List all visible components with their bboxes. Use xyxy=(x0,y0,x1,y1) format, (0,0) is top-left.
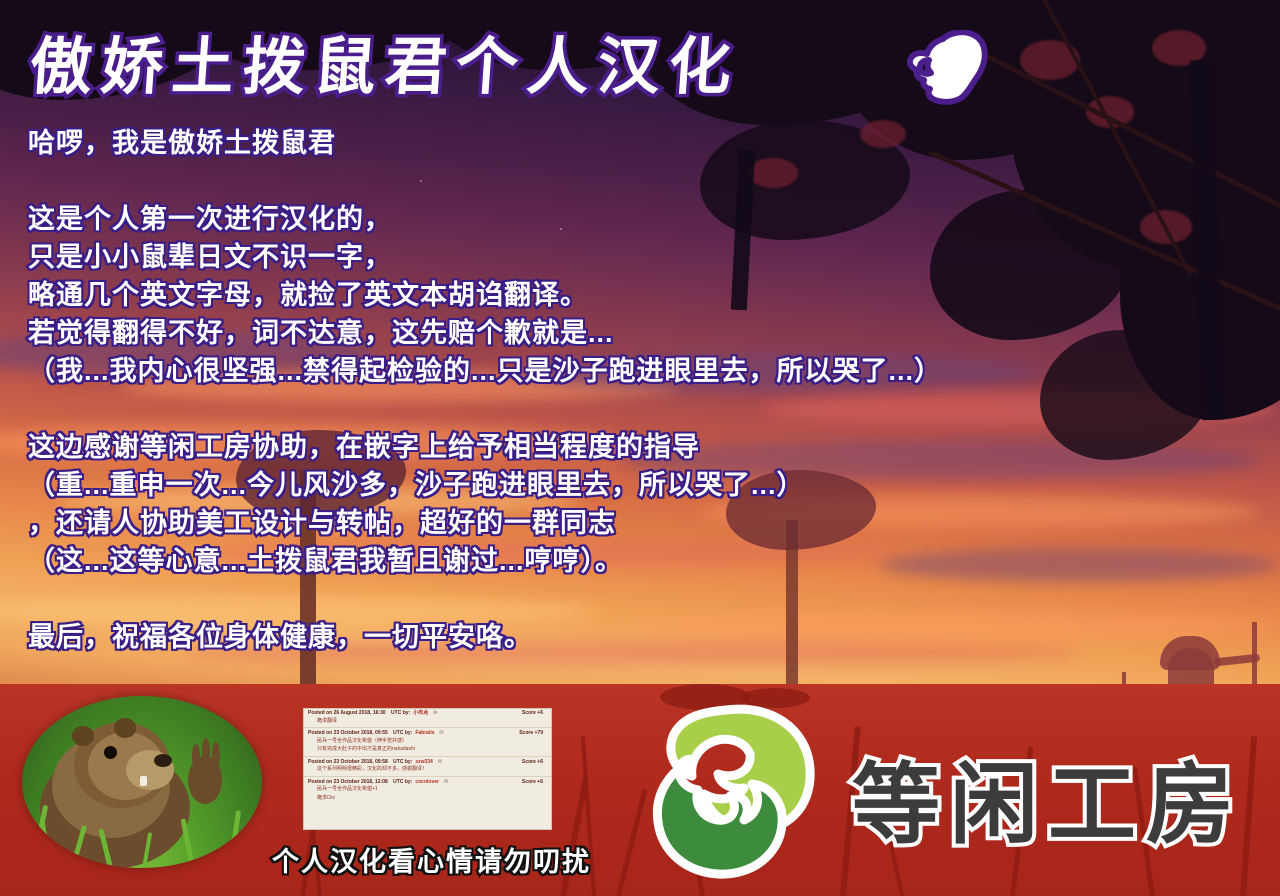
comment-username[interactable]: 小布点 xyxy=(413,710,428,717)
comment-username[interactable]: cocolover xyxy=(415,779,439,786)
envelope-icon[interactable]: ✉ xyxy=(440,730,444,737)
copy-spacer xyxy=(28,390,1258,428)
poster-canvas: 傲娇土拨鼠君个人汉化 哈啰，我是傲娇土拨鼠君 这是个人第一次进行汉化的， 只是小… xyxy=(0,0,1280,896)
logo-wordmark: 等闲工房 xyxy=(852,734,1244,861)
comment-divider xyxy=(304,776,551,777)
comment-divider xyxy=(304,727,551,728)
comments-panel: Posted on 26 August 2018, 16:30 UTC by: … xyxy=(303,708,552,830)
comment-text: 只有完成大肚子的中出才是真正的nakadashi xyxy=(304,746,551,755)
copy-line: （这...这等心意...土拨鼠君我暂且谢过...哼哼）。 xyxy=(28,542,1258,580)
comment-by-label: UTC by: xyxy=(393,730,412,737)
copy-line: 哈啰，我是傲娇土拨鼠君 xyxy=(28,124,1258,162)
comment-posted-prefix: Posted on xyxy=(308,710,332,717)
comment-by-label: UTC by: xyxy=(393,759,412,766)
page-title: 傲娇土拨鼠君个人汉化 xyxy=(27,24,1003,110)
comment-header: Posted on 23 October 2018, 12:08 UTC by:… xyxy=(304,778,551,786)
comment-divider xyxy=(304,756,551,757)
comment-text: 跪求翻译 xyxy=(304,717,551,727)
green-sprout-emblem-icon xyxy=(640,704,840,884)
copy-line: 这是个人第一次进行汉化的， xyxy=(28,200,1258,238)
poster-title-bar: 傲娇土拨鼠君个人汉化 xyxy=(30,24,1000,114)
comment-text: 民兵一号全作品汉化希望（伸手党并感） xyxy=(304,737,551,747)
envelope-icon[interactable]: ✉ xyxy=(444,779,448,786)
comment-posted-prefix: Posted on xyxy=(308,759,332,766)
comment-date: 23 October 2018, 09:58 xyxy=(334,759,388,766)
copy-spacer xyxy=(28,162,1258,200)
copy-line: 只是小小鼠辈日文不识一字， xyxy=(28,238,1258,276)
dengxian-logo: 等闲工房 xyxy=(640,694,1270,890)
comment-score: Score +6 xyxy=(522,759,547,766)
comment-username[interactable]: xzw334 xyxy=(415,759,433,766)
comment-date: 26 August 2018, 16:30 xyxy=(334,710,386,717)
comment-date: 23 October 2018, 09:55 xyxy=(334,730,388,737)
comment-score: Score +79 xyxy=(519,730,547,737)
comment-posted-prefix: Posted on xyxy=(308,730,332,737)
comment-header: Posted on 23 October 2018, 09:55 UTC by:… xyxy=(304,729,551,737)
copy-line: 若觉得翻得不好，词不达意，这先赔个歉就是... xyxy=(28,314,1258,352)
copy-line: （重...重申一次...今儿风沙多，沙子跑进眼里去，所以哭了...） xyxy=(28,466,1258,504)
copy-line: 这边感谢等闲工房协助，在嵌字上给予相当程度的指导 xyxy=(28,428,1258,466)
comment-by-label: UTC by: xyxy=(391,710,410,717)
comment-text: 民兵一号全作品汉化希望+1 xyxy=(304,785,551,795)
marmot-silhouette-icon xyxy=(905,30,989,106)
groundhog-photo xyxy=(22,696,262,868)
footer-caption: 个人汉化看心情请勿叨扰 xyxy=(272,840,591,879)
comment-header: Posted on 26 August 2018, 16:30 UTC by: … xyxy=(304,709,551,717)
comment-score: Score +6 xyxy=(522,710,547,717)
comment-header: Posted on 23 October 2018, 09:58 UTC by:… xyxy=(304,758,551,766)
copy-line: 最后，祝福各位身体健康，一切平安咯。 xyxy=(28,618,1258,656)
comment-score: Score +6 xyxy=(522,779,547,786)
comment-by-label: UTC by: xyxy=(393,779,412,786)
envelope-icon[interactable]: ✉ xyxy=(438,759,442,766)
copy-line: ，还请人协助美工设计与转帖，超好的一群同志 xyxy=(28,504,1258,542)
copy-spacer xyxy=(28,580,1258,618)
comment-text: 这个系列明明很精彩，汉化的却不多，感谢翻译！ xyxy=(304,765,551,775)
comment-username[interactable]: Fabralis xyxy=(415,730,434,737)
body-copy: 哈啰，我是傲娇土拨鼠君 这是个人第一次进行汉化的， 只是小小鼠辈日文不识一字， … xyxy=(28,124,1258,656)
comment-text: 跪求Orz xyxy=(304,795,551,804)
copy-line: （我...我内心很坚强...禁得起检验的...只是沙子跑进眼里去，所以哭了...… xyxy=(28,352,1258,390)
comment-date: 23 October 2018, 12:08 xyxy=(334,779,388,786)
envelope-icon[interactable]: ✉ xyxy=(433,710,437,717)
copy-line: 略通几个英文字母，就捡了英文本胡诌翻译。 xyxy=(28,276,1258,314)
comment-posted-prefix: Posted on xyxy=(308,779,332,786)
